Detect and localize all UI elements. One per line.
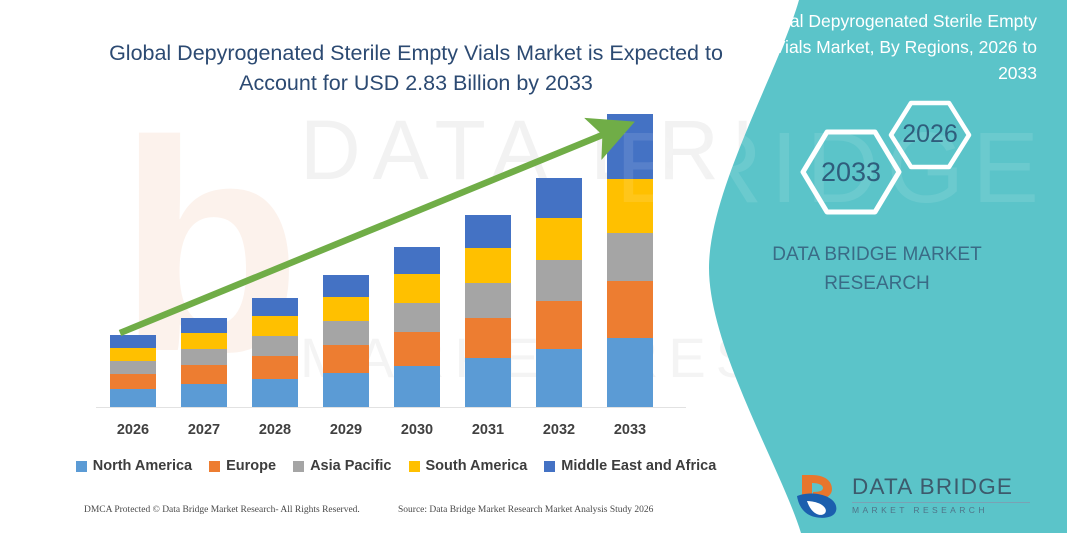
bar-segment-north-america [110,389,156,407]
legend-swatch-icon [209,461,220,472]
legend-label: Europe [226,458,276,474]
bar-2027 [181,318,227,407]
chart-legend: North AmericaEuropeAsia PacificSouth Ame… [96,455,696,477]
bar-segment-europe [465,318,511,358]
x-label-2030: 2030 [387,422,447,438]
bar-segment-asia-pacific [394,303,440,332]
bar-2032 [536,178,582,407]
legend-item-asia-pacific[interactable]: Asia Pacific [293,458,391,474]
bar-segment-europe [536,301,582,349]
x-label-2026: 2026 [103,422,163,438]
bar-segment-north-america [607,338,653,407]
hexagon-2033: 2033 [803,132,899,212]
footer-source: Source: Data Bridge Market Research Mark… [398,505,653,515]
bar-segment-north-america [465,358,511,407]
bar-segment-europe [607,281,653,338]
hexagon-2026-label: 2026 [902,120,958,148]
bar-segment-south-america [465,248,511,283]
x-label-2032: 2032 [529,422,589,438]
bar-segment-south-america [536,218,582,260]
logo-text: DATA BRIDGE MARKET RESEARCH [852,474,1042,515]
bar-segment-north-america [536,349,582,407]
bar-segment-south-america [181,333,227,349]
bar-segment-north-america [394,366,440,407]
hexagon-2026: 2026 [891,103,969,167]
x-axis-line [96,407,686,408]
bar-segment-middle-east-and-africa [465,215,511,248]
bar-2028 [252,298,298,407]
legend-label: South America [426,458,528,474]
legend-item-south-america[interactable]: South America [409,458,528,474]
hexagons-svg: 2026 2033 [737,95,997,225]
hexagon-group: 2026 2033 [737,95,997,225]
legend-label: Asia Pacific [310,458,391,474]
x-label-2033: 2033 [600,422,660,438]
bar-segment-middle-east-and-africa [323,275,369,297]
panel-brand: DATA BRIDGE MARKET RESEARCH [687,240,1067,298]
panel-title: Global Depyrogenated Sterile Empty Vials… [747,8,1037,86]
x-axis-labels: 20262027202820292030203120322033 [96,422,686,446]
x-label-2029: 2029 [316,422,376,438]
bar-segment-south-america [394,274,440,303]
bar-segment-asia-pacific [323,321,369,345]
right-panel-content: BRIDGE Global Depyrogenated Sterile Empt… [687,0,1067,533]
bar-segment-middle-east-and-africa [252,298,298,316]
bar-segment-asia-pacific [252,336,298,356]
bar-segment-north-america [323,373,369,407]
bar-segment-asia-pacific [181,349,227,365]
bar-segment-south-america [323,297,369,321]
infographic-root: b DATA BRIDGE MARKET RESEARCH Global Dep… [0,0,1067,533]
legend-item-europe[interactable]: Europe [209,458,276,474]
bar-segment-europe [252,356,298,379]
chart-title: Global Depyrogenated Sterile Empty Vials… [96,38,736,98]
bar-segment-europe [110,374,156,389]
bar-segment-europe [323,345,369,373]
panel-brand-line2: RESEARCH [687,269,1067,298]
bar-segment-asia-pacific [536,260,582,301]
bar-segment-asia-pacific [465,283,511,318]
bar-2030 [394,247,440,407]
footer: DMCA Protected © Data Bridge Market Rese… [0,505,760,525]
footer-copyright: DMCA Protected © Data Bridge Market Rese… [84,505,360,515]
data-bridge-logo-icon [792,472,844,520]
hexagon-2033-label: 2033 [821,157,881,187]
bar-segment-middle-east-and-africa [394,247,440,274]
bar-segment-asia-pacific [607,233,653,281]
bar-segment-north-america [252,379,298,407]
logo-title: DATA BRIDGE [852,474,1042,500]
x-label-2028: 2028 [245,422,305,438]
panel-brand-line1: DATA BRIDGE MARKET [687,240,1067,269]
bar-segment-europe [181,365,227,384]
bar-segment-asia-pacific [110,361,156,374]
x-label-2031: 2031 [458,422,518,438]
bar-2026 [110,335,156,407]
bar-segment-north-america [181,384,227,407]
bar-segment-south-america [110,348,156,361]
legend-swatch-icon [409,461,420,472]
logo-divider [852,502,1030,503]
bar-segment-middle-east-and-africa [536,178,582,218]
legend-swatch-icon [544,461,555,472]
logo: DATA BRIDGE MARKET RESEARCH [792,470,1042,522]
legend-item-north-america[interactable]: North America [76,458,192,474]
legend-swatch-icon [76,461,87,472]
bar-2031 [465,215,511,407]
bar-segment-europe [394,332,440,366]
bar-segment-middle-east-and-africa [181,318,227,333]
bar-2029 [323,275,369,407]
legend-swatch-icon [293,461,304,472]
legend-label: North America [93,458,192,474]
logo-subtitle: MARKET RESEARCH [852,505,1042,515]
bar-segment-south-america [252,316,298,336]
x-label-2027: 2027 [174,422,234,438]
bar-segment-middle-east-and-africa [110,335,156,348]
